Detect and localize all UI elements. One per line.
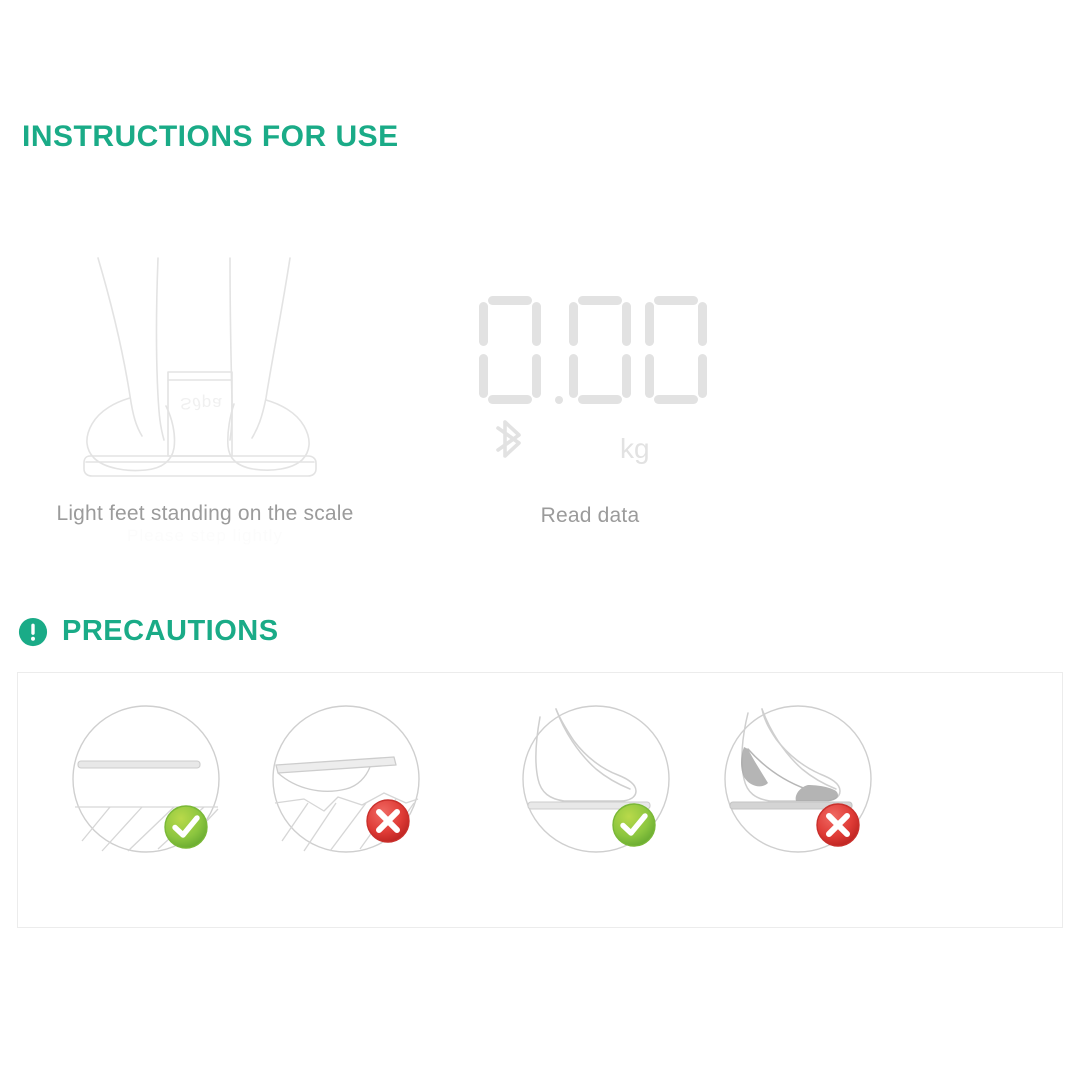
precautions-title: PRECAUTIONS [62, 615, 279, 648]
instruction-steps: S∂pa Light feet standing on the scale Pl… [0, 230, 1080, 540]
svg-text:kg: kg [620, 433, 650, 464]
instruction-step-1-watermark: Please step lightly [127, 526, 283, 546]
lcd-display-illustration: kg [430, 230, 750, 480]
instruction-step-2-caption: Read data [430, 504, 750, 528]
page-title: INSTRUCTIONS FOR USE [22, 120, 399, 154]
check-badge-icon [165, 806, 207, 848]
precaution-item-bare-foot [516, 699, 686, 869]
bluetooth-icon [498, 422, 519, 456]
feet-on-scale-illustration: S∂pa [40, 230, 370, 480]
cross-badge-icon [817, 804, 859, 846]
svg-text:S∂pa: S∂pa [180, 394, 223, 413]
precaution-item-hard-floor [66, 699, 236, 869]
cross-badge-icon [367, 800, 409, 842]
precaution-item-socked-foot [718, 699, 888, 869]
precautions-panel [17, 672, 1063, 928]
precaution-item-soft-floor [266, 699, 436, 869]
check-badge-icon [613, 804, 655, 846]
instruction-step-2: kg Read data [430, 230, 750, 528]
instruction-step-1-caption: Light feet standing on the scale [40, 502, 370, 526]
exclamation-circle-icon [18, 617, 48, 647]
instruction-step-1: S∂pa Light feet standing on the scale Pl… [40, 230, 370, 526]
precautions-heading-group: PRECAUTIONS [18, 615, 279, 648]
